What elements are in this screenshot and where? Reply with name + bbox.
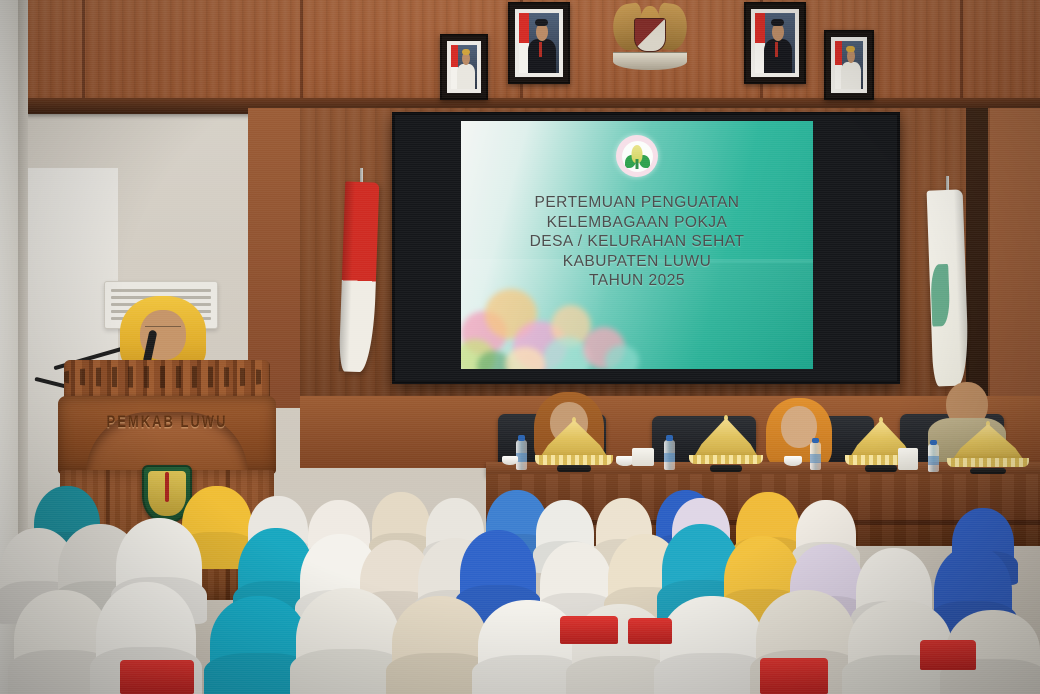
audience-chair — [628, 618, 672, 644]
podium-carved-text: PEMKAB LUWU — [58, 412, 276, 431]
hall-wall-strip — [18, 0, 28, 560]
wood-dark-strip — [966, 108, 988, 408]
organization-flag — [927, 189, 970, 386]
meeting-hall-photo: PERTEMUAN PENGUATAN KELEMBAGAAN POKJA DE… — [0, 0, 1040, 694]
audience-member — [296, 588, 400, 694]
audience-chair — [760, 658, 828, 694]
portrait-left — [508, 2, 570, 84]
audience-chair — [560, 616, 618, 644]
water-bottle — [810, 442, 821, 470]
podium-carved-crown — [64, 360, 270, 400]
health-ministry-logo — [616, 135, 658, 177]
audience-chair — [120, 660, 194, 694]
projector-screen: PERTEMUAN PENGUATAN KELEMBAGAAN POKJA DE… — [392, 112, 900, 384]
audience-member — [478, 600, 578, 694]
portrait-far-right — [824, 30, 874, 100]
garuda-pancasila-emblem — [607, 2, 693, 74]
portrait-right — [744, 2, 806, 84]
audience-member — [660, 596, 764, 694]
cup — [502, 456, 518, 465]
presentation-slide: PERTEMUAN PENGUATAN KELEMBAGAAN POKJA DE… — [461, 121, 813, 369]
tissue-box — [898, 448, 918, 470]
audience-chair — [920, 640, 976, 670]
tissue-box — [632, 448, 654, 466]
wood-panel-right — [990, 108, 1040, 408]
wood-seam — [300, 0, 303, 104]
cup — [784, 456, 802, 466]
tudung-saji — [538, 420, 610, 472]
slide-title: PERTEMUAN PENGUATAN KELEMBAGAAN POKJA DE… — [461, 193, 813, 291]
wood-seam — [82, 0, 85, 104]
portrait-far-left — [440, 34, 488, 100]
wood-seam — [960, 0, 963, 104]
water-bottle — [928, 444, 939, 472]
water-bottle — [516, 440, 527, 470]
slide-floral-decoration — [461, 281, 645, 369]
tudung-saji — [692, 418, 760, 472]
podium-arch: PEMKAB LUWU — [58, 396, 276, 474]
tudung-saji — [950, 424, 1026, 474]
water-bottle — [664, 440, 675, 470]
